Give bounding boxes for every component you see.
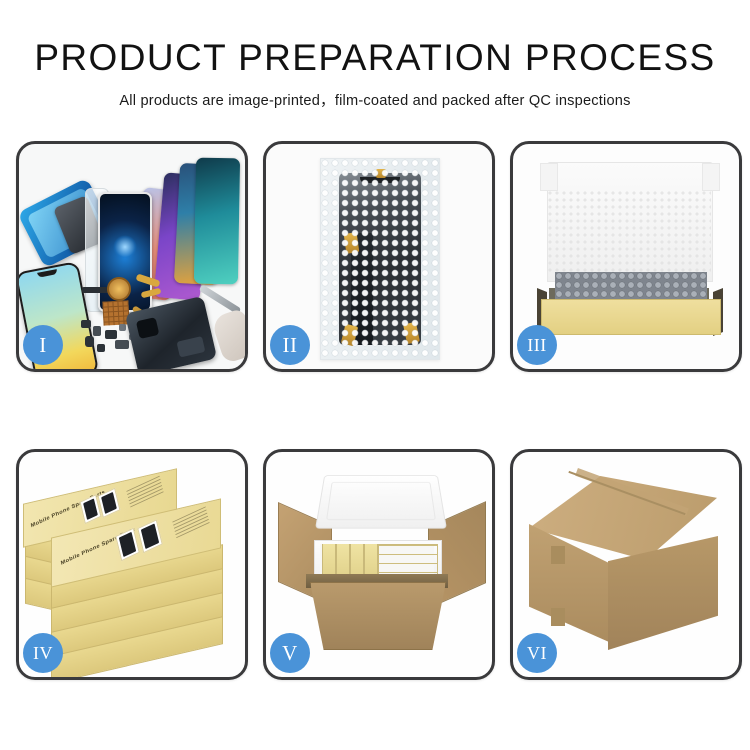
product-preparation-infographic: PRODUCT PREPARATION PROCESS All products… bbox=[0, 0, 750, 750]
step-badge-1: I bbox=[23, 325, 63, 365]
page-title: PRODUCT PREPARATION PROCESS bbox=[0, 38, 750, 78]
styrofoam-lid bbox=[315, 475, 447, 528]
step-panel-1[interactable]: I bbox=[16, 141, 248, 372]
process-step-grid: I II bbox=[16, 141, 734, 680]
phone-back-teal bbox=[194, 158, 240, 285]
small-part-5 bbox=[85, 336, 94, 347]
step-panel-2[interactable]: II bbox=[263, 141, 495, 372]
step-badge-3: III bbox=[517, 325, 557, 365]
copper-coil bbox=[107, 277, 131, 301]
hand bbox=[210, 308, 245, 364]
small-part-1 bbox=[81, 320, 91, 328]
box-spec-lines-2 bbox=[172, 506, 209, 538]
bubble-wrap-bag bbox=[320, 158, 440, 360]
step-panel-4[interactable]: Mobile Phone Spare Parts Mobile Phone Sp… bbox=[16, 449, 248, 680]
step-panel-5[interactable]: V bbox=[263, 449, 495, 680]
header: PRODUCT PREPARATION PROCESS All products… bbox=[0, 0, 750, 110]
foam-pad bbox=[547, 190, 711, 274]
page-subtitle: All products are image-printed，film-coat… bbox=[0, 89, 750, 110]
step-badge-5: V bbox=[270, 633, 310, 673]
step-panel-6[interactable]: VI bbox=[510, 449, 742, 680]
step-badge-4: IV bbox=[23, 633, 63, 673]
small-part-4 bbox=[119, 324, 126, 331]
box-window-2b bbox=[137, 519, 163, 553]
small-part-7 bbox=[97, 344, 105, 352]
small-part-2 bbox=[93, 326, 101, 336]
carton-tab-bottom bbox=[551, 608, 565, 626]
step-panel-3[interactable]: III bbox=[510, 141, 742, 372]
small-part-3 bbox=[105, 330, 117, 339]
small-part-6 bbox=[115, 340, 129, 349]
carton-tab-top bbox=[551, 546, 565, 564]
carton-body bbox=[310, 582, 446, 650]
box-spec-lines-1 bbox=[126, 476, 163, 508]
bubble-texture bbox=[321, 159, 439, 359]
step-badge-2: II bbox=[270, 325, 310, 365]
box-front-panel bbox=[541, 299, 721, 335]
step-badge-6: VI bbox=[517, 633, 557, 673]
chip-array bbox=[102, 300, 129, 325]
